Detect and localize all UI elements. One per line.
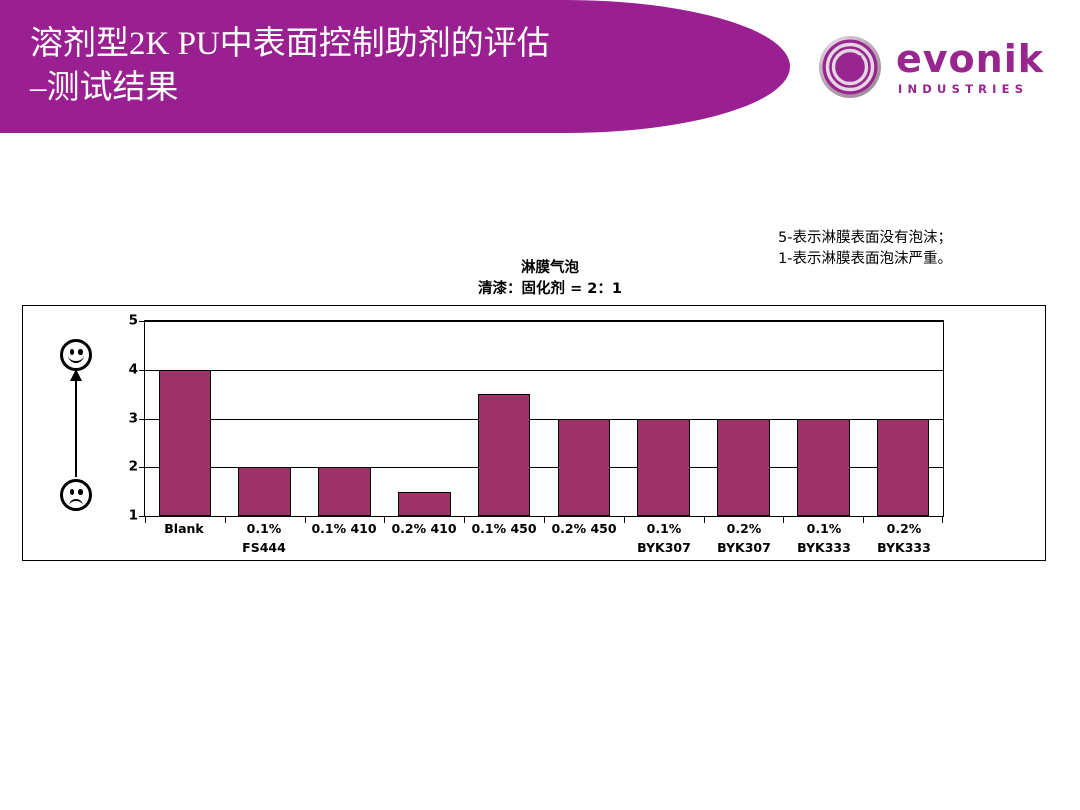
note-line-1: 5-表示淋膜表面没有泡沫；	[778, 228, 1068, 249]
bar-slot	[145, 321, 225, 516]
header-banner: 溶剂型2K PU中表面控制助剂的评估 –测试结果	[0, 0, 790, 133]
bar-slot	[783, 321, 863, 516]
bar-slot	[624, 321, 704, 516]
note-line-2: 1-表示淋膜表面泡沫严重。	[778, 249, 1068, 270]
x-axis-label: Blank	[144, 519, 224, 557]
x-axis-label: 0.1% 450	[464, 519, 544, 557]
bar[interactable]	[717, 419, 770, 517]
x-axis-label: 0.1% BYK307	[624, 519, 704, 557]
bar-slot	[544, 321, 624, 516]
x-axis-label: 0.2% BYK333	[864, 519, 944, 557]
x-axis-label: 0.2% BYK307	[704, 519, 784, 557]
bar[interactable]	[478, 394, 531, 516]
bar-slot	[225, 321, 305, 516]
bar[interactable]	[318, 467, 371, 516]
evonik-wordmark: evonik INDUSTRIES	[896, 39, 1071, 96]
bar-slot	[384, 321, 464, 516]
slide-title: 溶剂型2K PU中表面控制助剂的评估 –测试结果	[30, 22, 750, 110]
x-axis-label: 0.1% 410	[304, 519, 384, 557]
x-axis-labels: Blank0.1% FS4440.1% 4100.2% 4100.1% 4500…	[144, 519, 944, 557]
bar[interactable]	[159, 370, 212, 516]
eye-right	[78, 489, 83, 495]
x-axis-label: 0.2% 410	[384, 519, 464, 557]
y-axis-tick-label: 2	[129, 461, 138, 475]
evonik-logo: evonik INDUSTRIES	[818, 35, 1068, 107]
bar-slot	[305, 321, 385, 516]
bar-slot	[464, 321, 544, 516]
chart-title: 淋膜气泡 清漆：固化剂 = 2：1	[380, 258, 720, 300]
chart-title-line-2: 清漆：固化剂 = 2：1	[380, 279, 720, 300]
chart-title-line-1: 淋膜气泡	[380, 258, 720, 279]
arrow-shaft	[75, 377, 77, 477]
happy-face-icon	[60, 339, 92, 371]
sad-face-icon	[60, 479, 92, 511]
mood-scale	[47, 339, 107, 519]
evonik-tagline-text: INDUSTRIES	[896, 82, 1071, 96]
y-axis-tick-label: 1	[129, 509, 138, 523]
bar[interactable]	[877, 419, 930, 517]
x-axis-label: 0.1% FS444	[224, 519, 304, 557]
eye-left	[70, 489, 75, 495]
y-axis-tick-label: 5	[129, 314, 138, 328]
bar[interactable]	[797, 419, 850, 517]
bar-slot	[704, 321, 784, 516]
scale-explanation-note: 5-表示淋膜表面没有泡沫； 1-表示淋膜表面泡沫严重。	[778, 228, 1068, 270]
smile-mouth	[68, 354, 84, 363]
chart-container: 12345 Blank0.1% FS4440.1% 4100.2% 4100.1…	[22, 305, 1046, 561]
y-axis-tick-label: 3	[129, 412, 138, 426]
bar[interactable]	[238, 467, 291, 516]
bar[interactable]	[398, 492, 451, 516]
plot-area: 12345	[144, 320, 944, 517]
bar-slot	[863, 321, 943, 516]
evonik-e-circle-icon	[818, 35, 882, 99]
evonik-wordmark-text: evonik	[896, 39, 1071, 79]
frown-mouth	[69, 499, 83, 507]
y-axis-tick-label: 4	[129, 363, 138, 377]
x-axis-label: 0.2% 450	[544, 519, 624, 557]
bar[interactable]	[558, 419, 611, 517]
bar[interactable]	[637, 419, 690, 517]
bars-group	[145, 321, 943, 516]
x-axis-label: 0.1% BYK333	[784, 519, 864, 557]
